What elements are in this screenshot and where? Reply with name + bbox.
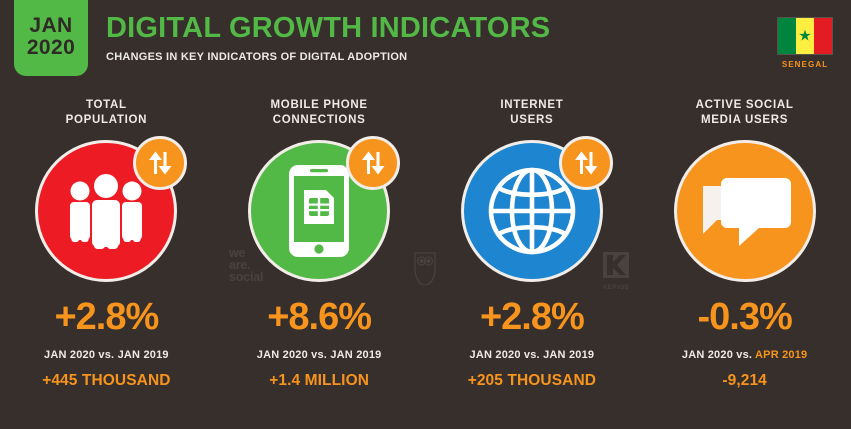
column-title-line1: ACTIVE SOCIAL	[696, 99, 794, 111]
change-badge	[559, 136, 613, 190]
people-icon	[60, 171, 152, 251]
column-title: INTERNET USERS	[500, 98, 563, 130]
column-title: TOTAL POPULATION	[66, 98, 148, 130]
page-title: DIGITAL GROWTH INDICATORS	[106, 14, 550, 43]
percent-change: -0.3%	[697, 298, 791, 336]
icon-disc-wrapper	[35, 140, 177, 282]
date-year: 2020	[27, 37, 75, 59]
comparison-prefix: JAN 2020 vs.	[470, 349, 544, 361]
percent-change: +8.6%	[267, 298, 371, 336]
comparison-period: JAN 2020 vs. JAN 2019	[44, 349, 169, 361]
column-title: MOBILE PHONE CONNECTIONS	[271, 98, 368, 130]
comparison-period: JAN 2020 vs. APR 2019	[682, 349, 808, 361]
flag-band-green	[778, 18, 796, 54]
absolute-change: +205 THOUSAND	[468, 372, 596, 390]
column-title-line1: INTERNET	[500, 99, 563, 111]
senegal-flag-icon: ★	[777, 17, 833, 55]
icon-disc-wrapper	[674, 140, 816, 282]
date-badge: JAN 2020	[14, 0, 88, 76]
percent-change: +2.8%	[480, 298, 584, 336]
comparison-period: JAN 2020 vs. JAN 2019	[257, 349, 382, 361]
indicator-columns: TOTAL POPULATION	[0, 98, 851, 408]
comparison-suffix: JAN 2019	[118, 349, 169, 361]
comparison-prefix: JAN 2020 vs.	[257, 349, 331, 361]
change-badge	[133, 136, 187, 190]
column-title-line1: MOBILE PHONE	[271, 99, 368, 111]
up-down-arrows-icon	[145, 150, 175, 176]
indicator-column-mobile-phone-connections: MOBILE PHONE CONNECTIONS	[213, 98, 426, 408]
flag-star-icon: ★	[798, 29, 811, 44]
disc-background	[674, 140, 816, 282]
comparison-suffix: APR 2019	[755, 349, 807, 361]
flag-band-red	[814, 18, 832, 54]
comparison-prefix: JAN 2020 vs.	[44, 349, 118, 361]
absolute-change: +445 THOUSAND	[42, 372, 170, 390]
comparison-period: JAN 2020 vs. JAN 2019	[470, 349, 595, 361]
column-title-line1: TOTAL	[86, 99, 127, 111]
up-down-arrows-icon	[571, 150, 601, 176]
icon-disc-wrapper	[248, 140, 390, 282]
speech-bubbles-icon	[697, 172, 793, 250]
indicator-column-internet-users: INTERNET USERS +2.8%	[426, 98, 639, 408]
column-title-line2: MEDIA USERS	[701, 114, 788, 126]
column-title-line2: POPULATION	[66, 114, 148, 126]
mobile-phone-sim-icon	[288, 164, 350, 258]
header-bar: JAN 2020 DIGITAL GROWTH INDICATORS CHANG…	[0, 0, 851, 92]
comparison-suffix: JAN 2019	[543, 349, 594, 361]
absolute-change: -9,214	[722, 372, 767, 390]
up-down-arrows-icon	[358, 150, 388, 176]
country-flag-block: ★ SENEGAL	[777, 17, 833, 69]
page-subtitle: CHANGES IN KEY INDICATORS OF DIGITAL ADO…	[106, 51, 550, 63]
comparison-suffix: JAN 2019	[330, 349, 381, 361]
title-block: DIGITAL GROWTH INDICATORS CHANGES IN KEY…	[106, 14, 550, 63]
change-badge	[346, 136, 400, 190]
indicator-column-active-social-media-users: ACTIVE SOCIAL MEDIA USERS -0.3% JAN 2020…	[638, 98, 851, 408]
absolute-change: +1.4 MILLION	[269, 372, 369, 390]
column-title-line2: USERS	[510, 114, 553, 126]
column-title-line2: CONNECTIONS	[273, 114, 366, 126]
indicator-column-total-population: TOTAL POPULATION	[0, 98, 213, 408]
column-title: ACTIVE SOCIAL MEDIA USERS	[696, 98, 794, 130]
date-month: JAN	[29, 15, 72, 37]
country-label: SENEGAL	[777, 60, 833, 69]
comparison-prefix: JAN 2020 vs.	[682, 349, 755, 361]
percent-change: +2.8%	[54, 298, 158, 336]
icon-disc-wrapper	[461, 140, 603, 282]
